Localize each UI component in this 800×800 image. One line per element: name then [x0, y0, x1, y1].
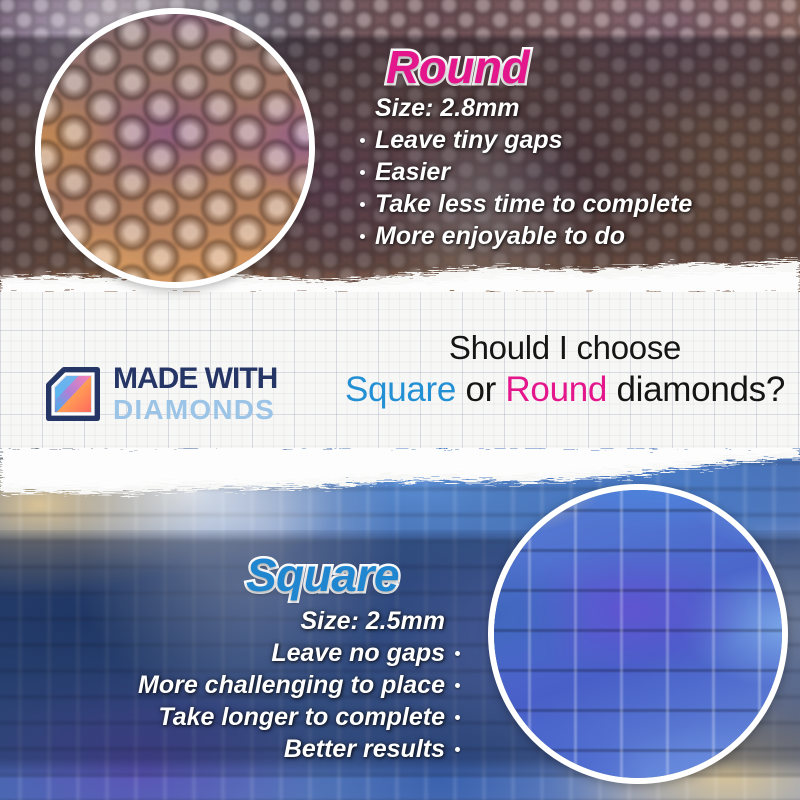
round-drills-inset-circle [35, 8, 315, 288]
square-facts-list: Size: 2.5mm Leave no gaps More challengi… [20, 605, 460, 765]
square-inset-photo [488, 484, 788, 784]
list-item: Leave tiny gaps [360, 124, 692, 156]
question-tail: diamonds? [607, 370, 785, 409]
brand-line2: DIAMONDS [113, 396, 277, 424]
list-item: Better results [20, 733, 460, 765]
question-block: Should I choose Square or Round diamonds… [330, 328, 800, 412]
square-fact-label: Take longer to complete [158, 701, 445, 733]
question-connector: or [456, 370, 505, 409]
bullet-dot [360, 234, 365, 239]
infographic-canvas: Round Size: 2.8mm Leave tiny gaps Easier… [0, 0, 800, 800]
square-fact-label: Better results [284, 733, 445, 765]
bullet-dot [360, 170, 365, 175]
diamond-prism-logo-icon [46, 367, 100, 421]
list-item: Easier [360, 156, 692, 188]
list-item: Take longer to complete [20, 701, 460, 733]
square-size-item: Size: 2.5mm [20, 605, 460, 637]
bullet-dot [360, 202, 365, 207]
brand-wordmark: MADE WITH DIAMONDS [113, 364, 277, 424]
brand-line1: MADE WITH [113, 364, 277, 394]
round-inset-photo [35, 8, 315, 288]
question-round-word: Round [505, 370, 607, 409]
square-fact-label: More challenging to place [138, 669, 445, 701]
brand-logo[interactable]: MADE WITH DIAMONDS [46, 364, 277, 424]
square-heading: Square [246, 548, 399, 602]
question-line1: Should I choose [330, 328, 800, 368]
list-item: Leave no gaps [20, 637, 460, 669]
round-facts-list: Size: 2.8mm Leave tiny gaps Easier Take … [360, 92, 692, 252]
square-drills-inset-circle [488, 484, 788, 784]
round-size-item: Size: 2.8mm [360, 92, 692, 124]
list-item: More enjoyable to do [360, 220, 692, 252]
round-fact-label: Take less time to complete [375, 188, 692, 220]
square-size-label: Size: 2.5mm [300, 605, 445, 637]
list-item: More challenging to place [20, 669, 460, 701]
bullet-dot [455, 651, 460, 656]
round-fact-label: Leave tiny gaps [375, 124, 563, 156]
round-size-label: Size: 2.8mm [375, 92, 520, 124]
round-fact-label: Easier [375, 156, 450, 188]
bullet-dot [360, 138, 365, 143]
bullet-dot [455, 747, 460, 752]
square-fact-label: Leave no gaps [271, 637, 445, 669]
question-square-word: Square [345, 370, 456, 409]
bullet-dot [455, 683, 460, 688]
bullet-dot [455, 715, 460, 720]
square-heading-text: Square [246, 549, 399, 601]
round-heading-text: Round [386, 41, 529, 93]
round-fact-label: More enjoyable to do [375, 220, 625, 252]
question-line2: Square or Round diamonds? [330, 368, 800, 412]
round-heading: Round [386, 40, 529, 94]
list-item: Take less time to complete [360, 188, 692, 220]
